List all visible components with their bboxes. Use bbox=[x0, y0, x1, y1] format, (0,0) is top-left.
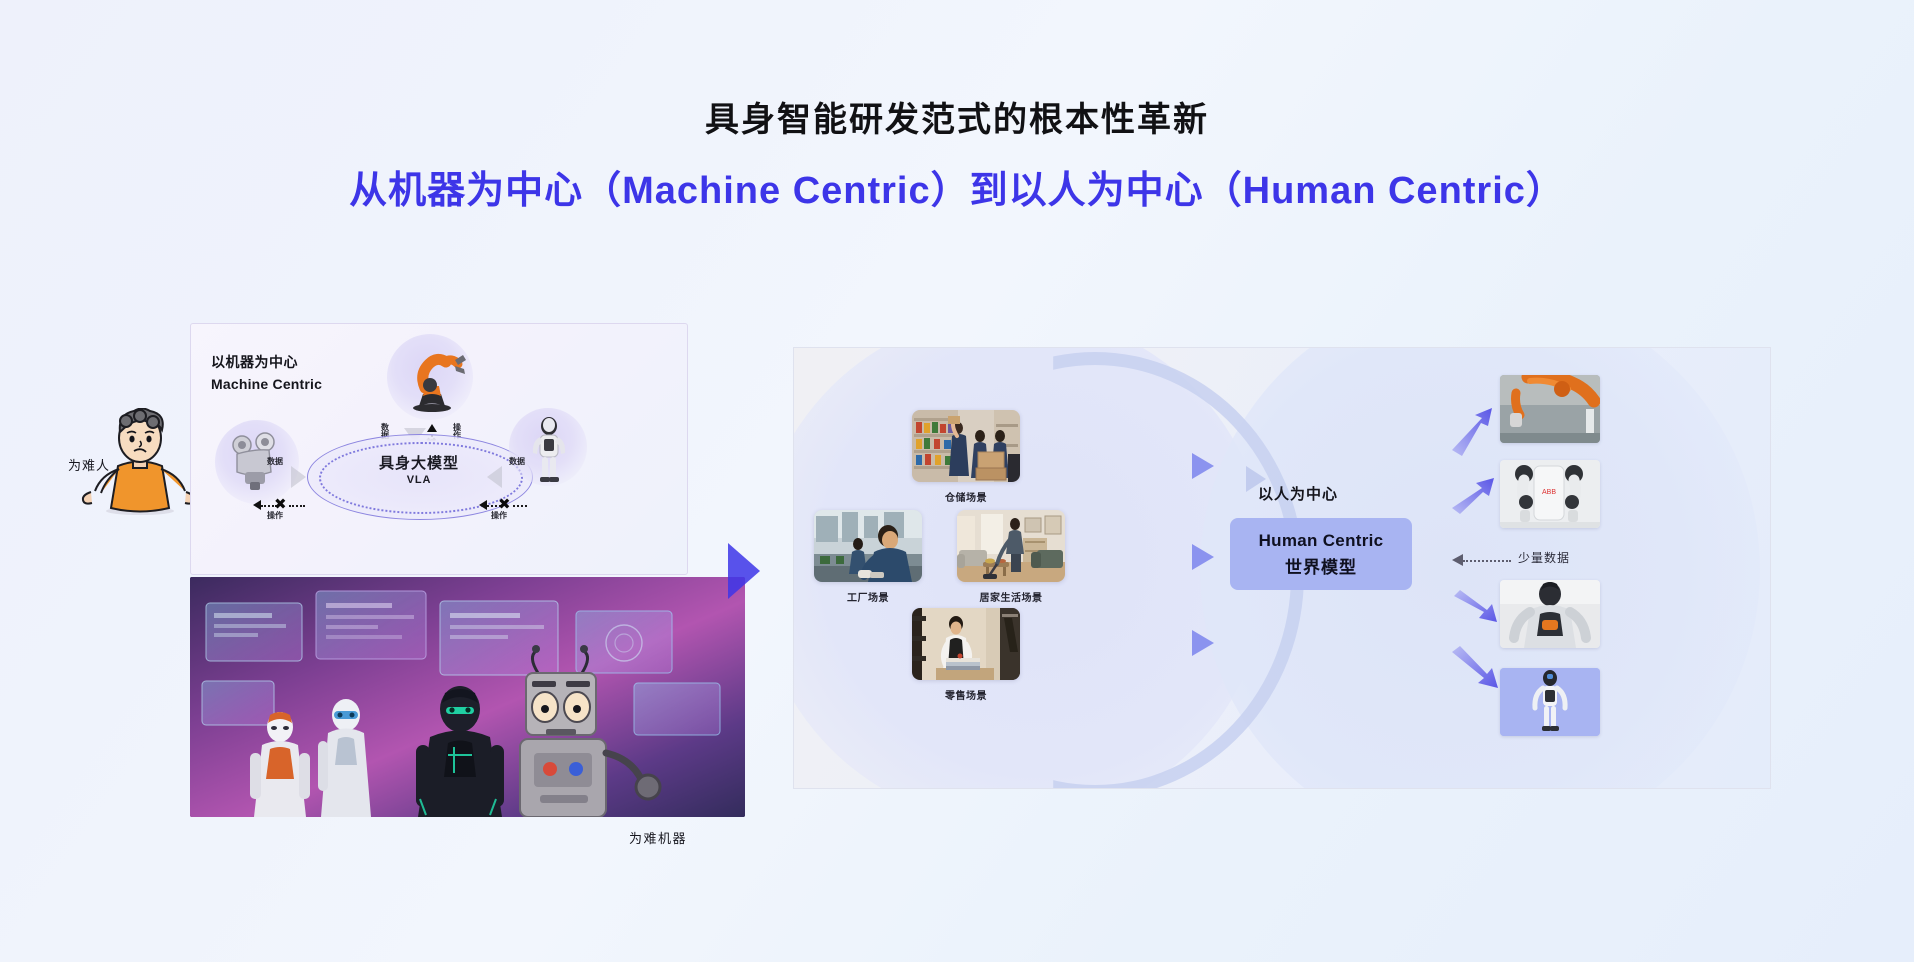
op-arrowhead-left bbox=[253, 500, 261, 510]
output-arrow-4 bbox=[1452, 646, 1498, 688]
small-data-label: 少量数据 bbox=[1518, 549, 1570, 566]
page-title: 具身智能研发范式的根本性革新 bbox=[0, 100, 1914, 141]
scene-to-model-arrow-mid bbox=[1192, 544, 1214, 570]
robot-army-art bbox=[190, 577, 745, 817]
robot-army-image bbox=[190, 577, 745, 817]
output-arrow-2 bbox=[1452, 478, 1494, 514]
scene-thumb-factory[interactable] bbox=[814, 510, 922, 582]
subtitle-part-1: 从机器为中心 bbox=[349, 170, 583, 212]
human-centric-model-box[interactable]: Human Centric 世界模型 bbox=[1230, 518, 1412, 590]
scene-caption-factory: 工厂场景 bbox=[814, 589, 922, 604]
output-arrow-3 bbox=[1454, 590, 1497, 622]
human-centric-model-en: Human Centric bbox=[1259, 531, 1384, 551]
subtitle-paren-1: （Machine Centric） bbox=[583, 170, 970, 212]
op-blocked-x-right: ✖ bbox=[498, 497, 511, 512]
data-label-left: 数据 bbox=[267, 458, 283, 466]
output-thumb-industrial-arm[interactable] bbox=[1500, 375, 1600, 443]
subtitle-part-2: 到以人为中心 bbox=[970, 170, 1204, 212]
scene-caption-home: 居家生活场景 bbox=[957, 589, 1065, 604]
title-block: 具身智能研发范式的根本性革新 从机器为中心（Machine Centric）到以… bbox=[0, 100, 1914, 214]
scene-thumb-retail[interactable] bbox=[912, 608, 1020, 680]
op-blocked-x-left: ✖ bbox=[274, 497, 287, 512]
page-subtitle: 从机器为中心（Machine Centric）到以人为中心（Human Cent… bbox=[0, 169, 1914, 215]
scene-caption-warehouse: 仓储场景 bbox=[912, 489, 1020, 504]
output-thumb-humanoid-torso[interactable] bbox=[1500, 580, 1600, 648]
output-arrow-1 bbox=[1452, 408, 1492, 456]
home-scene-art bbox=[957, 510, 1065, 582]
industrial-arm-art bbox=[1500, 375, 1600, 443]
human-centric-model-cn: 世界模型 bbox=[1285, 553, 1357, 578]
data-label-right: 数据 bbox=[509, 458, 525, 466]
output-thumb-dual-arm-robot[interactable]: ABB bbox=[1500, 460, 1600, 528]
machine-centric-heading: 以机器为中心 Machine Centric bbox=[211, 352, 322, 395]
data-arrow-left-node bbox=[291, 466, 306, 488]
op-arrowhead-up bbox=[427, 424, 437, 432]
robot-arm-icon bbox=[397, 340, 467, 414]
scene-caption-retail: 零售场景 bbox=[912, 687, 1020, 702]
op-label-left: 操作 bbox=[267, 512, 283, 520]
transition-arrow-icon bbox=[728, 543, 760, 599]
model-output-arrows bbox=[1448, 400, 1518, 700]
op-dotline-right-b bbox=[513, 505, 527, 507]
output-thumb-humanoid-full[interactable] bbox=[1500, 668, 1600, 736]
scene-thumb-warehouse[interactable] bbox=[912, 410, 1020, 482]
op-dotline-left-b bbox=[289, 505, 305, 507]
factory-scene-art bbox=[814, 510, 922, 582]
dual-arm-robot-art: ABB bbox=[1500, 460, 1600, 528]
feedback-dotted-line bbox=[1463, 560, 1511, 562]
humanoid-full-art bbox=[1500, 668, 1600, 736]
confused-person-illustration bbox=[78, 408, 198, 518]
op-label-right: 操作 bbox=[491, 512, 507, 520]
robot-army-caption: 为难机器 bbox=[629, 828, 687, 847]
human-centric-heading: 以人为中心 bbox=[1258, 483, 1338, 504]
retail-scene-art bbox=[912, 608, 1020, 680]
scene-to-model-arrow-top bbox=[1192, 453, 1214, 479]
machine-centric-heading-en: Machine Centric bbox=[211, 374, 322, 396]
warehouse-scene-art bbox=[912, 410, 1020, 482]
machine-centric-panel: 以机器为中心 Machine Centric 数据 操作 ✖ bbox=[190, 323, 688, 575]
humanoid-robot-icon bbox=[521, 412, 577, 484]
scene-to-model-arrow-bottom bbox=[1192, 630, 1214, 656]
op-arrowhead-right bbox=[479, 500, 487, 510]
slide-canvas: 具身智能研发范式的根本性革新 从机器为中心（Machine Centric）到以… bbox=[0, 0, 1914, 962]
humanoid-torso-art bbox=[1500, 580, 1600, 648]
machine-centric-heading-cn: 以机器为中心 bbox=[211, 352, 322, 374]
svg-text:ABB: ABB bbox=[1542, 489, 1556, 496]
subtitle-paren-2: （Human Centric） bbox=[1204, 170, 1565, 212]
feedback-arrowhead-icon bbox=[1452, 554, 1463, 566]
data-arrow-right-node bbox=[487, 466, 502, 488]
scene-thumb-home[interactable] bbox=[957, 510, 1065, 582]
